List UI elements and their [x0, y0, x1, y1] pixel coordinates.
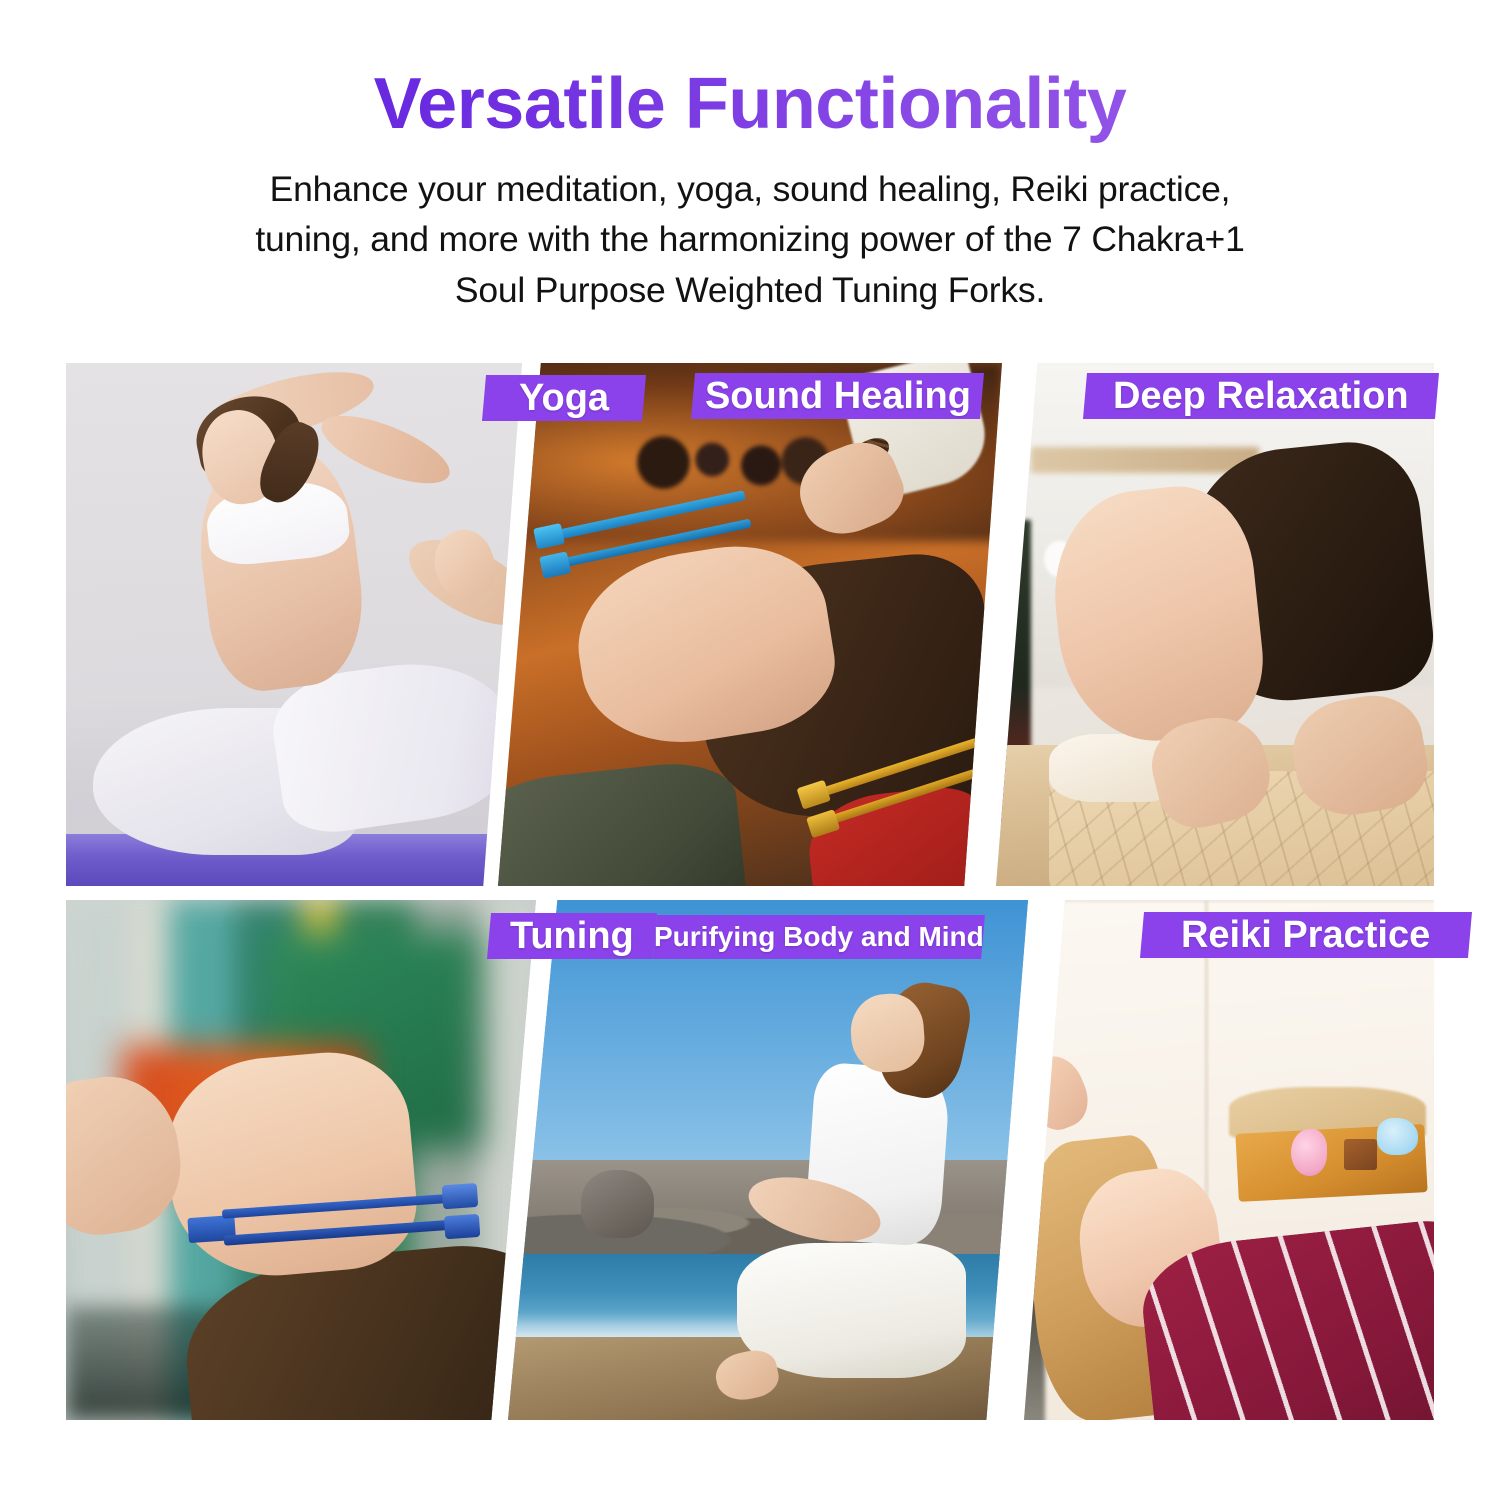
subtitle-line-1: Enhance your meditation, yoga, sound hea… [130, 164, 1370, 214]
badge-deep-relaxation-label: Deep Relaxation [1113, 375, 1409, 418]
collage-row-2: Tuning Purifying Body and Mind Reiki Pra… [66, 900, 1434, 1420]
yoga-scene-image [66, 363, 522, 886]
page-title: Versatile Functionality [0, 66, 1500, 150]
badge-tuning: Tuning [487, 913, 657, 959]
collage-panel-purifying-body-and-mind[interactable] [508, 900, 1028, 1420]
client-shirt [498, 757, 746, 886]
collage-panel-tuning[interactable] [66, 900, 536, 1420]
feature-collage: Yoga Sound Healing Deep Relaxation [0, 358, 1500, 1433]
brown-crystal [1344, 1139, 1377, 1170]
badge-yoga: Yoga [482, 375, 646, 421]
deep-relaxation-scene-image [996, 363, 1434, 886]
blue-crystal [1377, 1118, 1418, 1154]
tuning-scene-image [66, 900, 536, 1420]
badge-deep-relaxation: Deep Relaxation [1083, 373, 1439, 419]
badge-yoga-label: Yoga [519, 377, 609, 420]
product-feature-graphic: Versatile Functionality Enhance your med… [0, 0, 1500, 1500]
collage-panel-reiki-practice[interactable] [1024, 900, 1434, 1420]
subtitle-line-2: tuning, and more with the harmonizing po… [130, 214, 1370, 264]
beach-boulder [581, 1170, 654, 1238]
collage-row-1: Yoga Sound Healing Deep Relaxation [66, 363, 1434, 886]
collage-panel-deep-relaxation[interactable] [996, 363, 1434, 886]
subtitle-line-3: Soul Purpose Weighted Tuning Forks. [130, 265, 1370, 315]
header: Versatile Functionality Enhance your med… [0, 66, 1500, 315]
badge-reiki-practice: Reiki Practice [1140, 912, 1472, 958]
badge-purifying-body-and-mind: Purifying Body and Mind [653, 915, 985, 959]
beach-meditation-scene-image [508, 900, 1028, 1420]
collage-panel-sound-healing[interactable] [498, 363, 1002, 886]
spa-shelf [1031, 447, 1259, 473]
badge-sound-healing: Sound Healing [691, 373, 984, 419]
page-subtitle: Enhance your meditation, yoga, sound hea… [0, 164, 1500, 315]
badge-purifying-body-and-mind-label: Purifying Body and Mind [654, 921, 984, 953]
badge-sound-healing-label: Sound Healing [705, 375, 971, 418]
pink-crystal [1291, 1129, 1328, 1176]
sound-healing-scene-image [498, 363, 1002, 886]
reiki-scene-image [1024, 900, 1434, 1420]
badge-tuning-label: Tuning [510, 915, 634, 958]
collage-panel-yoga[interactable] [66, 363, 522, 886]
badge-reiki-practice-label: Reiki Practice [1181, 914, 1430, 957]
